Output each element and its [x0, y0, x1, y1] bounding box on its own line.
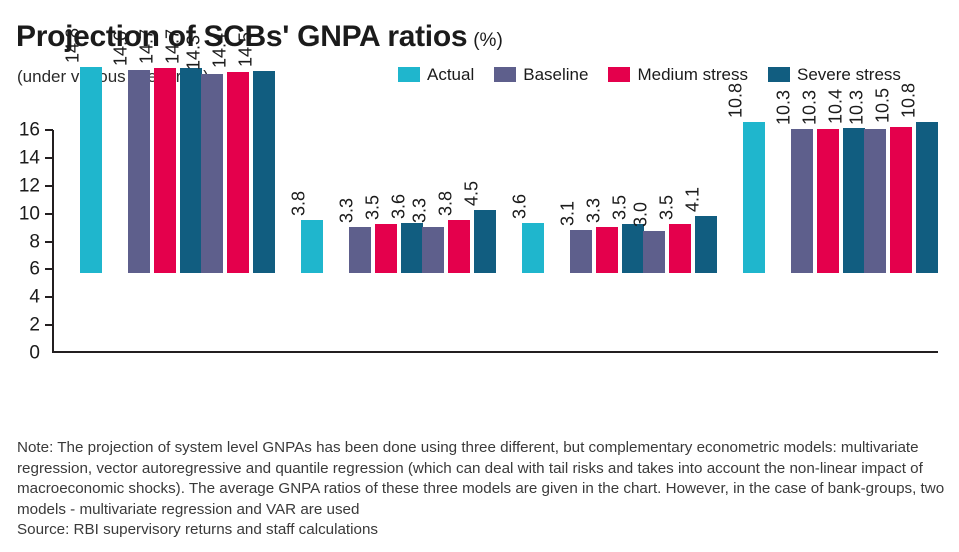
bar-value-label: 10.3	[848, 90, 866, 125]
bar-rect	[422, 227, 444, 273]
bar-value-label: 14.8	[63, 28, 81, 63]
bar-rect	[349, 227, 371, 273]
bar-rect	[80, 67, 102, 273]
legend-item-severe-stress: Severe stress	[768, 66, 901, 83]
bar-value-label: 10.8	[900, 83, 918, 118]
y-axis-tick-mark	[45, 296, 53, 298]
y-axis-tick-mark	[45, 268, 53, 270]
bar-rect	[201, 74, 223, 273]
bar-value-label: 3.1	[558, 201, 576, 226]
bar-rect	[180, 68, 202, 273]
bar-rect	[375, 224, 397, 273]
bar-rect	[474, 210, 496, 273]
bar-rect	[301, 220, 323, 273]
note-text: Note: The projection of system level GNP…	[17, 438, 945, 520]
legend-item-label: Medium stress	[637, 66, 748, 83]
chart-legend: ActualBaselineMedium stressSevere stress	[398, 66, 901, 83]
bar-value-label: 10.3	[800, 90, 818, 125]
bar-rect	[890, 127, 912, 273]
bar-value-label: 14.3	[185, 35, 203, 70]
bar-value-label: 14.6	[111, 30, 129, 65]
bar-rect	[522, 223, 544, 273]
bar-rect	[695, 216, 717, 273]
bar-value-label: 10.8	[726, 83, 744, 118]
y-axis-tick-mark	[45, 185, 53, 187]
bar-rect	[622, 224, 644, 273]
bar-value-label: 3.6	[389, 194, 407, 219]
bar-value-label: 3.0	[632, 202, 650, 227]
bar-rect	[154, 68, 176, 273]
bar-rect	[843, 128, 865, 273]
bar-value-label: 14.5	[237, 32, 255, 67]
bar-value-label: 10.4	[826, 89, 844, 124]
bar-rect	[916, 122, 938, 273]
bar-rect	[401, 223, 423, 273]
bar-value-label: 14.7	[163, 29, 181, 64]
bar-rect	[596, 227, 618, 273]
legend-swatch-icon	[398, 67, 420, 82]
page-title: Projection of SCBs' GNPA ratios(%)	[16, 20, 503, 54]
bar-rect	[643, 231, 665, 273]
legend-item-medium-stress: Medium stress	[608, 66, 748, 83]
bar-value-label: 3.8	[437, 191, 455, 216]
bar-value-label: 14.4	[211, 33, 229, 68]
bar-rect	[227, 72, 249, 273]
source-text: Source: RBI supervisory returns and staf…	[17, 520, 378, 541]
bar-rect	[253, 71, 275, 273]
chart-title-unit: (%)	[473, 30, 503, 51]
bar-value-label: 3.5	[658, 195, 676, 220]
legend-swatch-icon	[494, 67, 516, 82]
bar-value-label: 10.3	[774, 90, 792, 125]
chart-footer: Note: The projection of system level GNP…	[0, 434, 959, 552]
bar-value-label: 3.8	[289, 191, 307, 216]
legend-swatch-icon	[608, 67, 630, 82]
y-axis-tick-mark	[45, 241, 53, 243]
y-axis-tick-mark	[45, 324, 53, 326]
bar-value-label: 3.3	[337, 198, 355, 223]
legend-item-label: Baseline	[523, 66, 588, 83]
y-axis-tick-mark	[45, 213, 53, 215]
bar-value-label: 3.6	[510, 194, 528, 219]
bar-value-label: 3.5	[610, 195, 628, 220]
bar-value-label: 14.7	[137, 29, 155, 64]
legend-swatch-icon	[768, 67, 790, 82]
bar-value-label: 3.5	[363, 195, 381, 220]
bar-value-label: 4.5	[463, 181, 481, 206]
bar-rect	[864, 129, 886, 273]
bar-rect	[743, 122, 765, 273]
bar-rect	[128, 70, 150, 273]
legend-item-baseline: Baseline	[494, 66, 588, 83]
bar-value-label: 4.1	[684, 187, 702, 212]
bar-rect	[448, 220, 470, 273]
bar-value-label: 3.3	[584, 198, 602, 223]
y-axis-tick-mark	[45, 157, 53, 159]
bar-rect	[669, 224, 691, 273]
plot-area: 0246810121416 14.814.614.714.714.314.414…	[0, 108, 959, 433]
y-axis-tick-mark	[45, 129, 53, 131]
legend-item-label: Actual	[427, 66, 474, 83]
bar-rect	[817, 129, 839, 273]
bars-layer: 14.814.614.714.714.314.414.53.83.33.53.6…	[0, 108, 959, 353]
bar-value-label: 10.5	[874, 88, 892, 123]
bar-value-label: 3.3	[411, 198, 429, 223]
bar-rect	[570, 230, 592, 273]
legend-item-label: Severe stress	[797, 66, 901, 83]
legend-item-actual: Actual	[398, 66, 474, 83]
bar-rect	[791, 129, 813, 273]
